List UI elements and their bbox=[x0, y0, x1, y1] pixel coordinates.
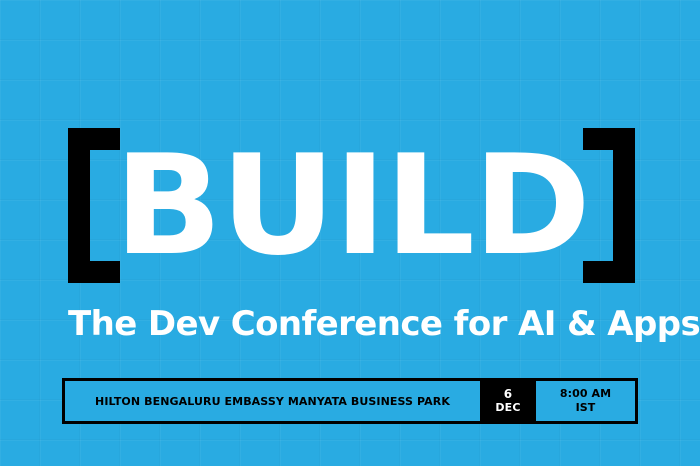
event-info-bar: HILTON BENGALURU EMBASSY MANYATA BUSINES… bbox=[62, 378, 638, 424]
right-bracket-icon bbox=[583, 128, 635, 283]
event-date-month: DEC bbox=[495, 401, 520, 415]
event-date-badge: 6 DEC bbox=[483, 381, 533, 421]
event-time-block: 8:00 AM IST bbox=[536, 381, 635, 421]
event-time-clock: 8:00 AM bbox=[560, 387, 611, 401]
build-logo-lockup: BUILD bbox=[68, 128, 635, 283]
event-tagline: The Dev Conference for AI & Apps bbox=[68, 303, 635, 345]
wordmark-build: BUILD bbox=[113, 128, 590, 283]
venue-label: HILTON BENGALURU EMBASSY MANYATA BUSINES… bbox=[65, 381, 480, 421]
event-date-day: 6 bbox=[504, 387, 513, 401]
event-time-timezone: IST bbox=[576, 401, 596, 415]
event-poster: BUILD The Dev Conference for AI & Apps H… bbox=[0, 0, 700, 466]
